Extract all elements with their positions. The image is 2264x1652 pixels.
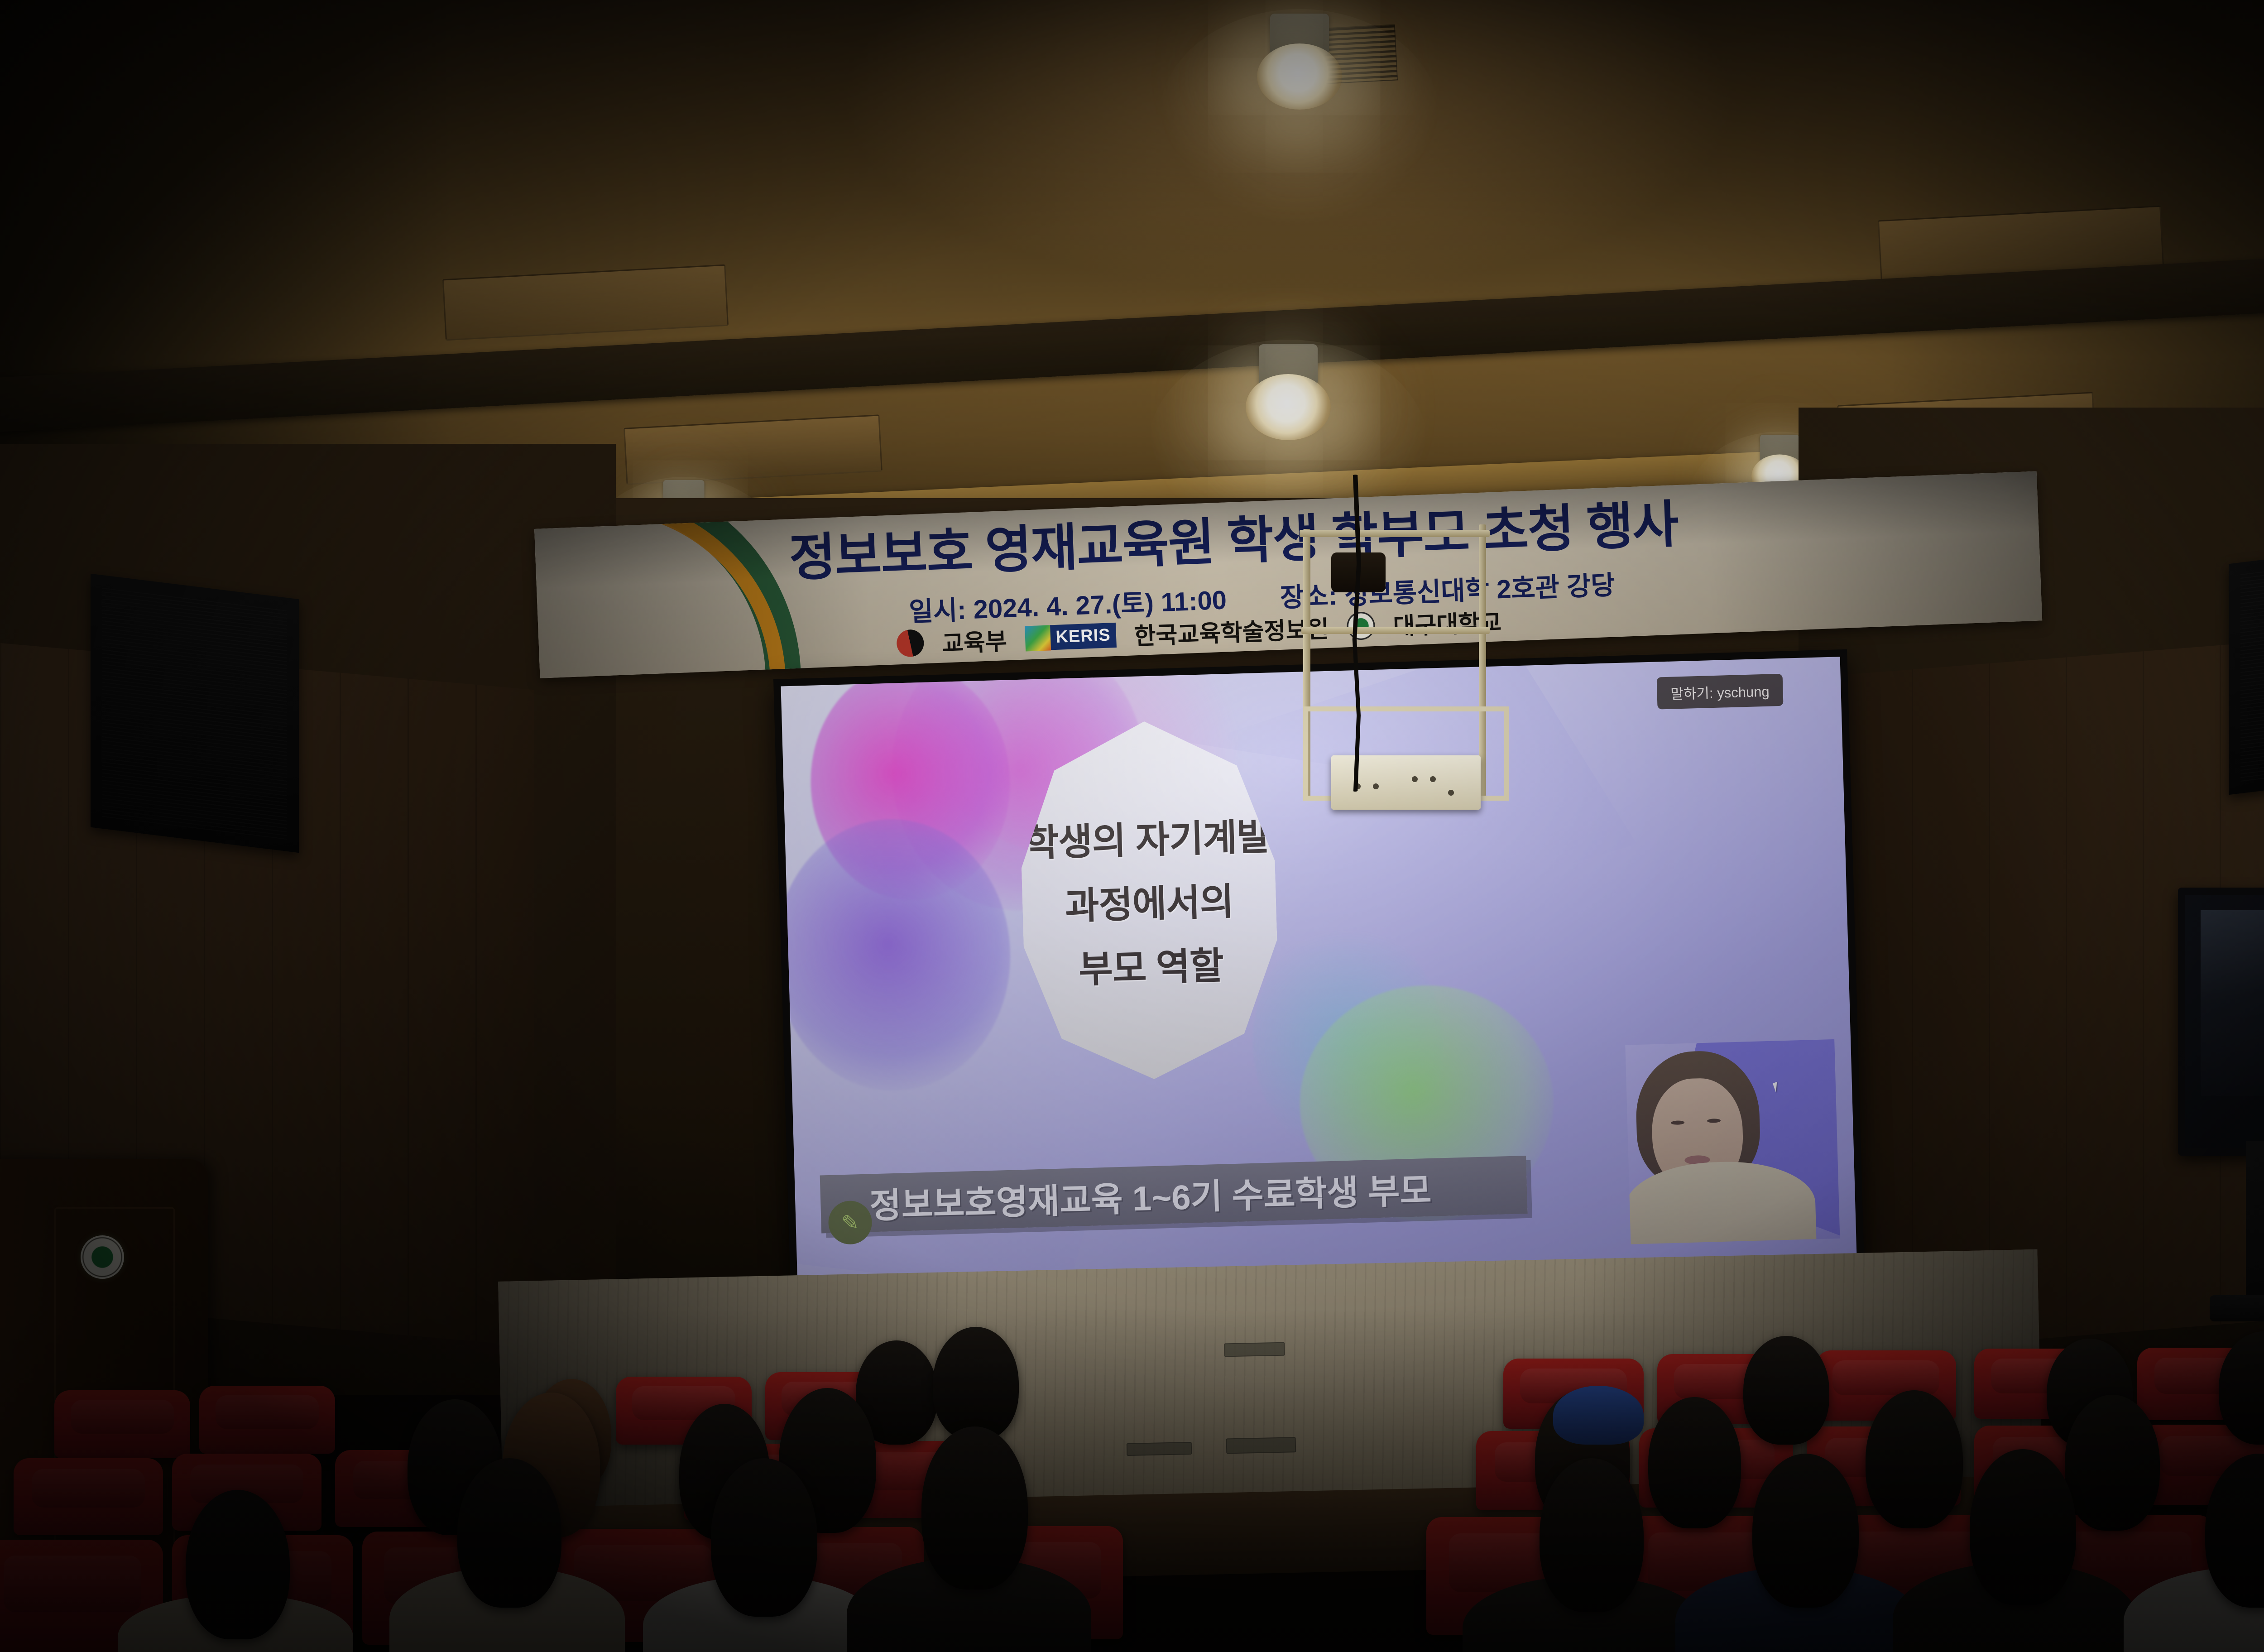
ceiling-projector [1331, 755, 1481, 810]
seat[interactable] [54, 1390, 190, 1458]
audience-member [711, 1458, 817, 1617]
audience-member [1540, 1458, 1644, 1612]
display-stand-column [2246, 1141, 2264, 1309]
projector-mount-rig [1281, 502, 1517, 819]
active-speaker-chip: 말하기: yschung [1656, 674, 1783, 710]
keris-abbrev: KERIS [1050, 623, 1117, 650]
audience-member [2065, 1395, 2160, 1531]
audience-member [1970, 1449, 2076, 1605]
light-bulb [1257, 43, 1342, 110]
moe-taegeuk-icon [896, 629, 924, 657]
projector-port [1373, 783, 1379, 789]
right-wall-speaker [2229, 546, 2264, 795]
projector-port [1430, 776, 1436, 782]
presenter-video-tile [1625, 1039, 1840, 1244]
projector-port [1448, 790, 1454, 796]
projector-port [1412, 776, 1418, 782]
rig-crossbar [1301, 627, 1490, 634]
keris-square-icon [1025, 625, 1051, 651]
audience-member [186, 1490, 290, 1639]
display-stand-base [2210, 1295, 2264, 1321]
logo-label-moe: 교육부 [941, 622, 1007, 658]
audience-member [457, 1458, 561, 1608]
audience-member [1648, 1397, 1741, 1528]
seat[interactable] [14, 1458, 163, 1535]
audience-member [933, 1327, 1019, 1440]
keris-icon: KERIS [1025, 622, 1117, 651]
rig-crossbar [1300, 530, 1490, 537]
audience-cap [1553, 1386, 1644, 1445]
light-bulb [1246, 374, 1331, 440]
slide-title-line-1: 학생의 자기계발 [1024, 806, 1271, 867]
screen-reflection [2201, 910, 2264, 1096]
audience-member [1752, 1454, 1859, 1608]
audience-member [1866, 1390, 1963, 1528]
side-display-monitor[interactable] [2178, 888, 2264, 1156]
left-wall-speaker [91, 574, 299, 853]
audience-member [1743, 1336, 1829, 1445]
speaker-grill [102, 587, 287, 840]
slide-title-line-3: 부모 역할 [1078, 935, 1224, 993]
slide-footer-label: 정보보호영재교육 1~6기 수료학생 부모 [869, 1162, 1432, 1228]
slide-title-line-2: 과정에서의 [1064, 871, 1234, 929]
audience-member [921, 1426, 1028, 1590]
speaker-grill [2240, 559, 2264, 782]
audience-seating [0, 1322, 2264, 1652]
seat[interactable] [199, 1386, 335, 1454]
auditorium-scene: 정보보호 영재교육원 학생 학부모 초청 행사 일시: 2024. 4. 27.… [0, 0, 2264, 1652]
daegu-university-emblem-icon [81, 1235, 124, 1279]
